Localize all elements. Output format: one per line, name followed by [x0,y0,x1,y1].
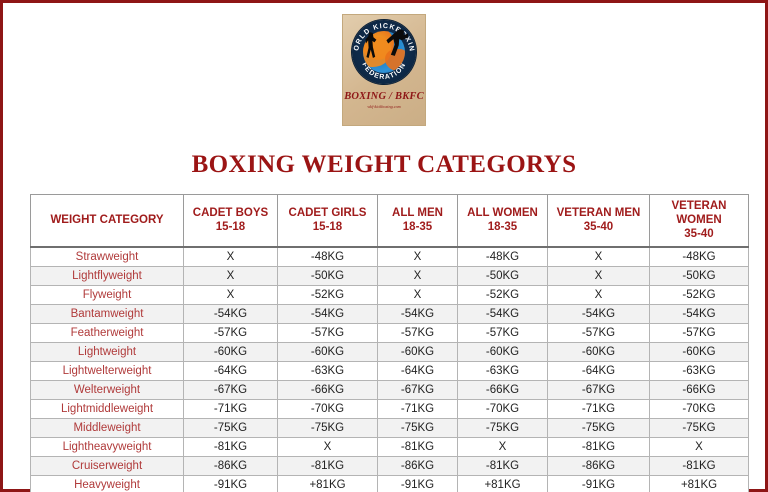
weight-limit-cell: -52KG [458,285,548,304]
weight-limit-cell: -57KG [378,323,458,342]
weight-limit-cell: X [278,437,378,456]
logo-title: BOXING / BKFC [344,91,424,102]
column-header-age-range: 15-18 [186,220,275,234]
page-content: WORLD KICKBOXING FEDERATION BOXING / BKF… [6,6,762,486]
weight-category-name: Lightwelterweight [31,361,184,380]
weight-limit-cell: +81KG [650,475,749,492]
weight-limit-cell: -75KG [378,418,458,437]
weight-limit-cell: -48KG [278,247,378,266]
weight-limit-cell: -71KG [184,399,278,418]
column-header-label: CADET GIRLS [289,207,367,219]
table-row: FlyweightX-52KGX-52KGX-52KG [31,285,749,304]
weight-limit-cell: -52KG [650,285,749,304]
column-header-veteran-men[interactable]: VETERAN MEN35-40 [548,195,650,248]
column-header-veteran-women[interactable]: VETERAN WOMEN35-40 [650,195,749,248]
weight-limit-cell: -75KG [184,418,278,437]
table-row: Featherweight-57KG-57KG-57KG-57KG-57KG-5… [31,323,749,342]
column-header-weight-category[interactable]: WEIGHT CATEGORY [31,195,184,248]
weight-category-name: Featherweight [31,323,184,342]
weight-limit-cell: -50KG [458,266,548,285]
weight-category-name: Lightweight [31,342,184,361]
column-header-age-range: 15-18 [280,220,375,234]
table-row: LightflyweightX-50KGX-50KGX-50KG [31,266,749,285]
table-header-row: WEIGHT CATEGORYCADET BOYS15-18CADET GIRL… [31,195,749,248]
weight-limit-cell: -70KG [650,399,749,418]
weight-limit-cell: -75KG [650,418,749,437]
weight-limit-cell: -54KG [548,304,650,323]
weight-limit-cell: X [184,285,278,304]
weight-limit-cell: -91KG [184,475,278,492]
column-header-age-range: 18-35 [460,220,545,234]
weight-limit-cell: +81KG [458,475,548,492]
weight-limit-cell: -70KG [278,399,378,418]
weight-limit-cell: -57KG [278,323,378,342]
weight-limit-cell: -60KG [184,342,278,361]
table-row: Heavyweight-91KG+81KG-91KG+81KG-91KG+81K… [31,475,749,492]
column-header-label: ALL WOMEN [467,207,538,219]
weight-limit-cell: -86KG [378,456,458,475]
column-header-age-range: 18-35 [380,220,455,234]
weight-limit-cell: -67KG [548,380,650,399]
column-header-age-range: 35-40 [652,227,746,241]
weight-limit-cell: -63KG [650,361,749,380]
weight-limit-cell: -75KG [458,418,548,437]
weight-categories-table: WEIGHT CATEGORYCADET BOYS15-18CADET GIRL… [30,194,749,492]
column-header-label: WEIGHT CATEGORY [50,214,163,226]
weight-limit-cell: -81KG [378,437,458,456]
weight-limit-cell: -64KG [184,361,278,380]
weight-category-name: Lightmiddleweight [31,399,184,418]
weight-limit-cell: -91KG [378,475,458,492]
weight-limit-cell: -50KG [650,266,749,285]
weight-category-name: Heavyweight [31,475,184,492]
weight-limit-cell: -75KG [278,418,378,437]
weight-limit-cell: -66KG [458,380,548,399]
weight-limit-cell: X [548,247,650,266]
weight-category-name: Middleweight [31,418,184,437]
table-row: Welterweight-67KG-66KG-67KG-66KG-67KG-66… [31,380,749,399]
weight-limit-cell: -81KG [184,437,278,456]
weight-limit-cell: -63KG [278,361,378,380]
weight-limit-cell: -67KG [378,380,458,399]
weight-limit-cell: -66KG [650,380,749,399]
column-header-cadet-boys[interactable]: CADET BOYS15-18 [184,195,278,248]
weight-limit-cell: -71KG [548,399,650,418]
column-header-label: VETERAN MEN [557,207,641,219]
table-row: Lightmiddleweight-71KG-70KG-71KG-70KG-71… [31,399,749,418]
table-header: WEIGHT CATEGORYCADET BOYS15-18CADET GIRL… [31,195,749,248]
weight-limit-cell: X [458,437,548,456]
weight-limit-cell: -81KG [278,456,378,475]
weight-limit-cell: -64KG [548,361,650,380]
table-row: StrawweightX-48KGX-48KGX-48KG [31,247,749,266]
column-header-all-men[interactable]: ALL MEN18-35 [378,195,458,248]
weight-limit-cell: -60KG [650,342,749,361]
weight-limit-cell: -50KG [278,266,378,285]
weight-limit-cell: -54KG [650,304,749,323]
logo-url: wkf-kickboxing.com [367,104,400,109]
weight-limit-cell: -54KG [278,304,378,323]
weight-category-name: Welterweight [31,380,184,399]
weight-category-name: Flyweight [31,285,184,304]
weight-limit-cell: X [184,266,278,285]
column-header-label: ALL MEN [392,207,443,219]
weight-limit-cell: -64KG [378,361,458,380]
weight-category-name: Lightflyweight [31,266,184,285]
weight-limit-cell: X [548,266,650,285]
weight-category-name: Lightheavyweight [31,437,184,456]
weight-limit-cell: -54KG [378,304,458,323]
weight-limit-cell: -81KG [650,456,749,475]
weight-limit-cell: -75KG [548,418,650,437]
weight-limit-cell: -52KG [278,285,378,304]
column-header-cadet-girls[interactable]: CADET GIRLS15-18 [278,195,378,248]
weight-limit-cell: -81KG [458,456,548,475]
table-row: Lightheavyweight-81KGX-81KGX-81KGX [31,437,749,456]
weight-limit-cell: -60KG [458,342,548,361]
weight-limit-cell: -91KG [548,475,650,492]
table-row: Lightweight-60KG-60KG-60KG-60KG-60KG-60K… [31,342,749,361]
weight-limit-cell: X [378,247,458,266]
weight-limit-cell: -60KG [378,342,458,361]
weight-limit-cell: -63KG [458,361,548,380]
page-border: WORLD KICKBOXING FEDERATION BOXING / BKF… [0,0,768,492]
column-header-label: CADET BOYS [193,207,268,219]
weight-limit-cell: -54KG [458,304,548,323]
weight-limit-cell: -57KG [458,323,548,342]
weight-limit-cell: -70KG [458,399,548,418]
weight-limit-cell: +81KG [278,475,378,492]
weight-limit-cell: -86KG [548,456,650,475]
wkf-logo: WORLD KICKBOXING FEDERATION BOXING / BKF… [342,14,426,126]
weight-limit-cell: -48KG [650,247,749,266]
weight-limit-cell: X [548,285,650,304]
weight-limit-cell: X [378,285,458,304]
weight-limit-cell: -54KG [184,304,278,323]
table-row: Middleweight-75KG-75KG-75KG-75KG-75KG-75… [31,418,749,437]
column-header-age-range: 35-40 [550,220,647,234]
weight-limit-cell: -48KG [458,247,548,266]
weight-limit-cell: -66KG [278,380,378,399]
table-row: Cruiserweight-86KG-81KG-86KG-81KG-86KG-8… [31,456,749,475]
weight-limit-cell: X [650,437,749,456]
weight-limit-cell: X [378,266,458,285]
wkf-emblem-icon: WORLD KICKBOXING FEDERATION [352,20,416,84]
weight-limit-cell: -86KG [184,456,278,475]
weight-categories-table-wrapper: WEIGHT CATEGORYCADET BOYS15-18CADET GIRL… [30,194,748,492]
weight-limit-cell: -57KG [184,323,278,342]
weight-limit-cell: -60KG [278,342,378,361]
weight-limit-cell: -57KG [650,323,749,342]
weight-limit-cell: -81KG [548,437,650,456]
table-row: Bantamweight-54KG-54KG-54KG-54KG-54KG-54… [31,304,749,323]
weight-limit-cell: -60KG [548,342,650,361]
weight-limit-cell: -67KG [184,380,278,399]
weight-category-name: Strawweight [31,247,184,266]
weight-limit-cell: X [184,247,278,266]
table-body: StrawweightX-48KGX-48KGX-48KGLightflywei… [31,247,749,492]
page-title: BOXING WEIGHT CATEGORYS [6,151,762,179]
weight-category-name: Bantamweight [31,304,184,323]
weight-limit-cell: -57KG [548,323,650,342]
weight-category-name: Cruiserweight [31,456,184,475]
weight-limit-cell: -71KG [378,399,458,418]
table-row: Lightwelterweight-64KG-63KG-64KG-63KG-64… [31,361,749,380]
column-header-all-women[interactable]: ALL WOMEN18-35 [458,195,548,248]
column-header-label: VETERAN WOMEN [672,200,727,226]
